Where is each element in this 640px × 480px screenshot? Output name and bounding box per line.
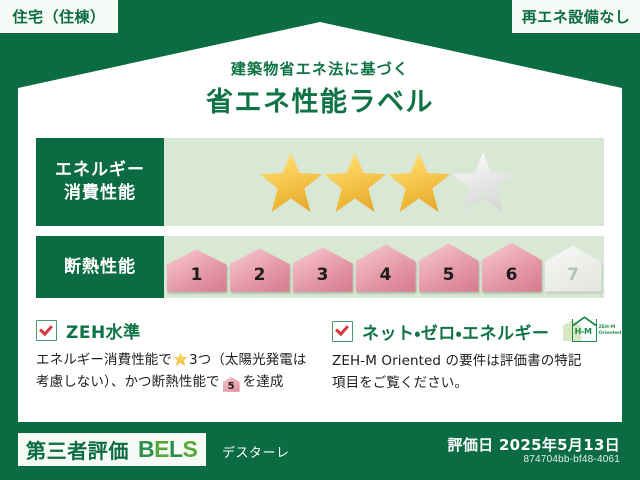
grade-house-7-label: 7 — [567, 265, 579, 292]
bels-letter-b: B — [138, 436, 154, 462]
grade-house-6: 6 — [482, 243, 542, 292]
evaluation-id: 874704bb-bf48-4061 — [524, 454, 620, 465]
bels-letter-e: E — [154, 436, 169, 462]
grade-scale: 1 2 3 4 5 6 7 — [167, 243, 602, 292]
star-icon-4 — [452, 152, 514, 212]
insulation-performance-value: 1 2 3 4 5 6 7 — [164, 236, 604, 298]
nzeb-note: ネット・ゼロ・エネルギー H-M ZEH-M Oriented ZEH-M Or… — [332, 318, 604, 395]
grade-house-2: 2 — [230, 249, 290, 292]
grade-house-2-label: 2 — [254, 265, 266, 292]
bels-badge-jp-label: 第三者評価 — [26, 435, 129, 464]
nzeb-note-body: ZEH-M Oriented の要件は評価書の特記 項目をご覧ください。 — [332, 351, 604, 395]
zeh-note-body-part4: を達成 — [243, 374, 284, 390]
zeh-note-body-part1: エネルギー消費性能で — [36, 352, 172, 368]
checkmark-icon-zeh — [36, 320, 57, 341]
vendor-name: デスターレ — [222, 442, 290, 461]
energy-performance-key: エネルギー 消費性能 — [36, 138, 164, 226]
energy-performance-key-line1: エネルギー — [55, 159, 145, 182]
grade-house-4: 4 — [356, 245, 416, 292]
nzeb-note-body-line1: ZEH-M Oriented の要件は評価書の特記 — [332, 351, 604, 373]
building-type-tag-label: 住宅（住棟） — [12, 6, 105, 27]
building-type-tag: 住宅（住棟） — [0, 0, 118, 33]
zehm-oriented-logo: H-M ZEH-M Oriented — [563, 318, 622, 344]
zeh-note-title: ZEH水準 — [66, 318, 141, 343]
star-icon-1 — [260, 152, 322, 212]
checkmark-icon-nzeb — [332, 321, 353, 342]
nzeb-note-body-line2: 項目をご覧ください。 — [332, 373, 604, 395]
energy-performance-row: エネルギー 消費性能 — [36, 138, 604, 226]
zeh-note: ZEH水準 エネルギー消費性能で3つ（太陽光発電は考慮しない）、かつ断熱性能で5… — [36, 318, 308, 394]
grade-house-6-label: 6 — [506, 265, 518, 292]
page-title: 省エネ性能ラベル — [0, 80, 640, 119]
renewable-equipment-tag: 再エネ設備なし — [512, 0, 640, 33]
zeh-note-body: エネルギー消費性能で3つ（太陽光発電は考慮しない）、かつ断熱性能で5を達成 — [36, 350, 308, 394]
nzeb-note-title: ネット・ゼロ・エネルギー — [362, 319, 550, 344]
bels-letter-l: L — [169, 436, 183, 462]
grade-house-1-label: 1 — [191, 265, 203, 292]
grade-house-1: 1 — [167, 250, 227, 292]
bels-badge: 第三者評価 BELS — [18, 433, 206, 466]
zehm-house-icon: H-M — [563, 318, 597, 344]
grade-house-5-label: 5 — [443, 265, 455, 292]
energy-performance-label: 住宅（住棟） 再エネ設備なし 建築物省エネ法に基づく 省エネ性能ラベル エネルギ… — [0, 0, 640, 480]
grade-house-5: 5 — [419, 244, 479, 292]
zeh-note-head: ZEH水準 — [36, 318, 308, 343]
energy-performance-key-line2: 消費性能 — [64, 182, 136, 205]
nzeb-note-head: ネット・ゼロ・エネルギー H-M ZEH-M Oriented — [332, 318, 604, 344]
label-subtitle: 建築物省エネ法に基づく — [0, 58, 640, 79]
footer-bar: 第三者評価 BELS デスターレ 評価日 2025年5月13日 874704bb… — [0, 422, 640, 480]
bels-letter-s: S — [183, 436, 198, 462]
insulation-performance-row: 断熱性能 1 2 3 4 5 6 7 — [36, 236, 604, 298]
insulation-performance-key: 断熱性能 — [36, 236, 164, 298]
grade-badge-inline-label: 5 — [228, 381, 235, 392]
star-rating — [260, 152, 514, 212]
renewable-equipment-tag-label: 再エネ設備なし — [522, 6, 631, 27]
star-icon-2 — [324, 152, 386, 212]
grade-house-7: 7 — [545, 246, 602, 292]
zeh-note-body-part2: 3つ（太陽光発電 — [189, 352, 293, 368]
grade-house-4-label: 4 — [380, 265, 392, 292]
bels-badge-en-label: BELS — [138, 436, 197, 463]
insulation-performance-key-line1: 断熱性能 — [64, 256, 136, 279]
grade-badge-icon-inline: 5 — [223, 377, 240, 392]
zehm-logo-caption: ZEH-M Oriented — [599, 325, 622, 336]
star-icon-inline — [173, 352, 188, 366]
grade-house-3-label: 3 — [317, 265, 329, 292]
star-icon-3 — [388, 152, 450, 212]
evaluation-date: 評価日 2025年5月13日 — [448, 434, 620, 455]
energy-performance-value — [164, 138, 604, 226]
zehm-mark-text: H-M — [575, 327, 592, 336]
grade-house-3: 3 — [293, 248, 353, 292]
